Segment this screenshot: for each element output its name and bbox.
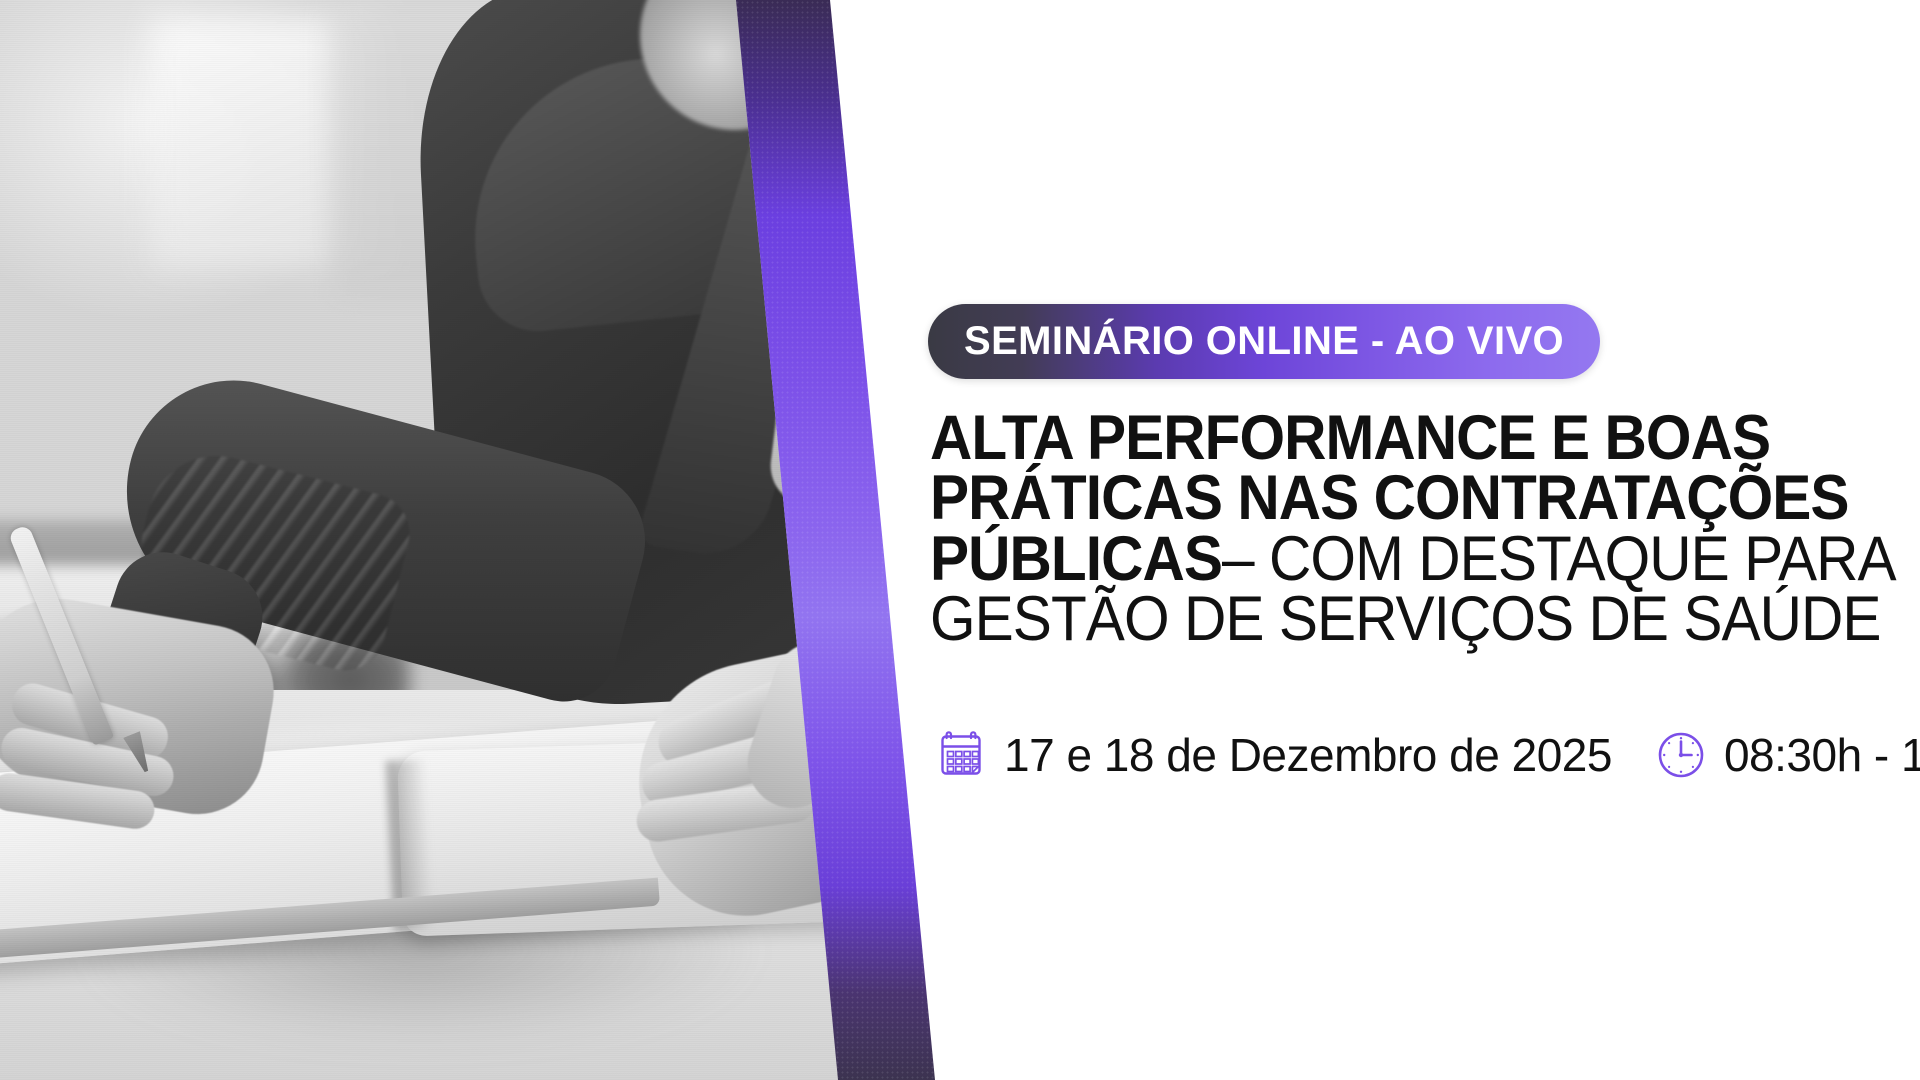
headline-line-4: GESTÃO DE SERVIÇOS DE SAÚDE <box>930 589 1851 649</box>
event-date-label: 17 e 18 de Dezembro de 2025 <box>1004 728 1612 782</box>
photo-grain-overlay <box>0 0 860 1080</box>
headline-line-2: PRÁTICAS NAS CONTRATAÇÕES <box>930 468 1851 528</box>
photo-scene <box>0 0 860 1080</box>
event-time-label: 08:30h - 18h <box>1724 728 1920 782</box>
clock-icon <box>1652 726 1710 784</box>
headline-line-1: ALTA PERFORMANCE E BOAS <box>930 408 1851 468</box>
headline-line-3: PÚBLICAS– COM DESTAQUE PARA <box>930 529 1851 589</box>
event-type-badge-label: SEMINÁRIO ONLINE - AO VIVO <box>964 319 1564 364</box>
content-panel: SEMINÁRIO ONLINE - AO VIVO ALTA PERFORMA… <box>928 0 1920 1080</box>
event-type-badge: SEMINÁRIO ONLINE - AO VIVO <box>928 304 1600 379</box>
event-details-row: 17 e 18 de Dezembro de 2025 <box>932 726 1920 784</box>
page-title: ALTA PERFORMANCE E BOAS PRÁTICAS NAS CON… <box>930 408 1920 650</box>
hero-photo <box>0 0 860 1080</box>
calendar-icon <box>932 726 990 784</box>
seminar-poster: SEMINÁRIO ONLINE - AO VIVO ALTA PERFORMA… <box>0 0 1920 1080</box>
event-time-item: 08:30h - 18h <box>1652 726 1920 784</box>
event-date-item: 17 e 18 de Dezembro de 2025 <box>932 726 1612 784</box>
